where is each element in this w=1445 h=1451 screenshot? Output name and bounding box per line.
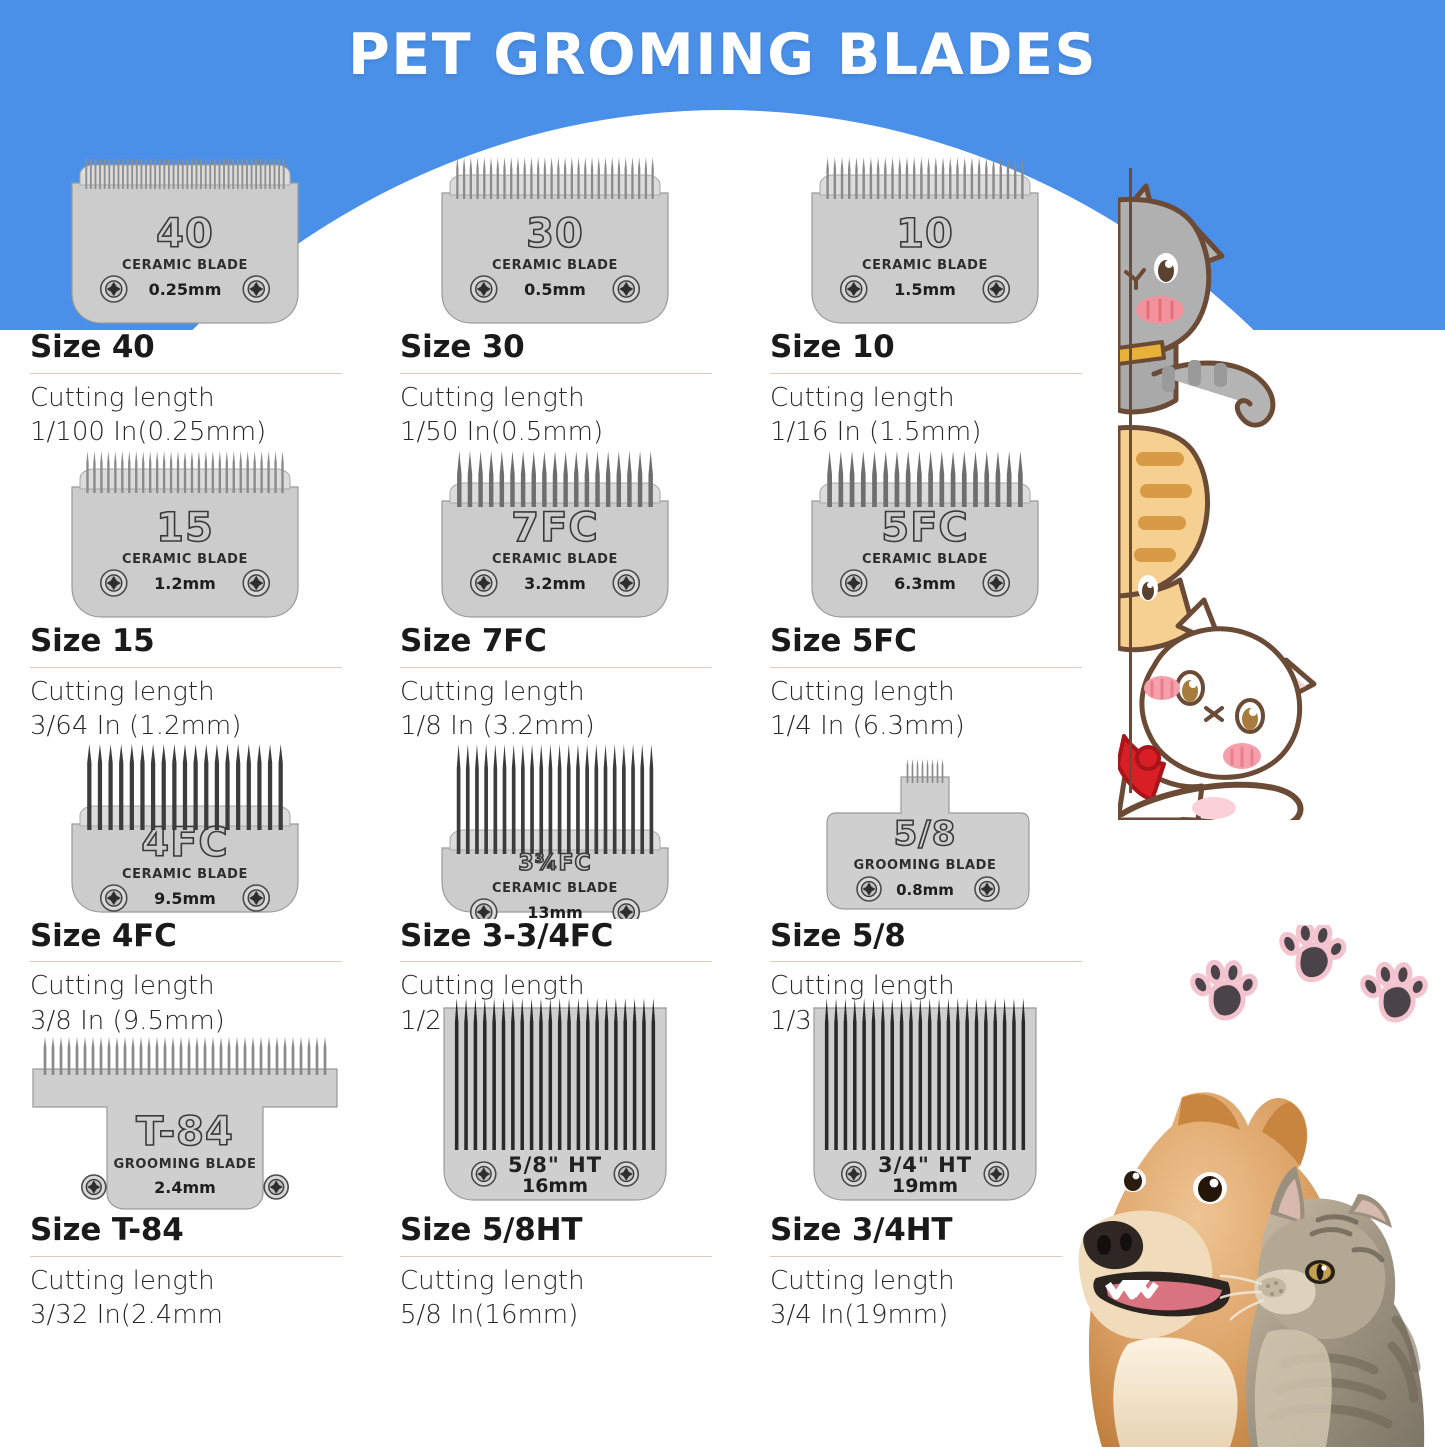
blade-grid: 40CERAMIC BLADE0.25mmSize 40Cutting leng… [0,150,1110,1332]
svg-text:CERAMIC BLADE: CERAMIC BLADE [122,552,248,567]
blade-size-label: Size 5FC [770,624,1110,659]
blade-info: Size 10Cutting length1/16 In (1.5mm) [740,330,1110,449]
svg-text:0.25mm: 0.25mm [149,280,222,299]
divider-rule [30,667,342,668]
blade-card[interactable]: T-84GROOMING BLADE2.4mmSize T-84Cutting … [0,1038,370,1332]
cutting-length-value: 1/16 In (1.5mm) [770,415,1110,449]
svg-text:CERAMIC BLADE: CERAMIC BLADE [862,258,988,273]
blade-size-label: Size 40 [30,330,370,365]
cutting-length-value: 3/8 In (9.5mm) [30,1004,370,1038]
vertical-divider [1129,168,1132,793]
divider-rule [400,1256,712,1257]
blade-info: Size 5FCCutting length1/4 In (6.3mm) [740,624,1110,743]
svg-text:T-84: T-84 [136,1109,234,1155]
blade-row: T-84GROOMING BLADE2.4mmSize T-84Cutting … [0,1038,1110,1332]
svg-text:1.5mm: 1.5mm [894,280,956,299]
svg-text:0.8mm: 0.8mm [896,881,954,899]
svg-text:10: 10 [896,211,954,257]
cutting-length-label: Cutting length [770,1264,1110,1298]
blade-image-30: 30CERAMIC BLADE0.5mm [370,150,740,330]
blade-card[interactable]: 10CERAMIC BLADE1.5mmSize 10Cutting lengt… [740,150,1110,449]
blade-image-40: 40CERAMIC BLADE0.25mm [0,150,370,330]
divider-rule [770,373,1082,374]
blade-size-label: Size 10 [770,330,1110,365]
svg-text:CERAMIC BLADE: CERAMIC BLADE [492,881,618,896]
blade-info: Size 7FCCutting length1/8 In (3.2mm) [370,624,740,743]
blade-row: 40CERAMIC BLADE0.25mmSize 40Cutting leng… [0,150,1110,449]
svg-text:5FC: 5FC [881,505,969,551]
blade-card[interactable]: 5/8GROOMING BLADE0.8mmSize 5/8Cutting le… [740,744,1110,1038]
divider-rule [30,1256,342,1257]
svg-text:CERAMIC BLADE: CERAMIC BLADE [862,552,988,567]
svg-text:GROOMING BLADE: GROOMING BLADE [854,858,997,873]
cutting-length-label: Cutting length [400,381,740,415]
divider-rule [30,373,342,374]
cutting-length-label: Cutting length [770,675,1110,709]
blade-card[interactable]: 4FCCERAMIC BLADE9.5mmSize 4FCCutting len… [0,744,370,1038]
svg-text:0.5mm: 0.5mm [524,280,586,299]
svg-text:7FC: 7FC [511,505,599,551]
cutting-length-label: Cutting length [30,675,370,709]
blade-info: Size 5/8HTCutting length5/8 In(16mm) [370,1213,740,1332]
blade-card[interactable]: 5/8" HT16mmSize 5/8HTCutting length5/8 I… [370,1038,740,1332]
blade-image-34ht: 3/4" HT19mm [740,1038,1110,1213]
blade-card[interactable]: 40CERAMIC BLADE0.25mmSize 40Cutting leng… [0,150,370,449]
cutting-length-value: 3/32 In(2.4mm [30,1298,370,1332]
cutting-length-value: 3/64 In (1.2mm) [30,709,370,743]
page-title: PET GROMING BLADES [0,22,1445,88]
blade-info: Size 3/4HTCutting length3/4 In(19mm) [740,1213,1110,1332]
svg-text:CERAMIC BLADE: CERAMIC BLADE [492,258,618,273]
blade-card[interactable]: 3/4" HT19mmSize 3/4HTCutting length3/4 I… [740,1038,1110,1332]
svg-text:3/4" HT: 3/4" HT [878,1153,972,1177]
blade-row: 15CERAMIC BLADE1.2mmSize 15Cutting lengt… [0,449,1110,743]
svg-text:15: 15 [156,505,214,551]
blade-size-label: Size 7FC [400,624,740,659]
cutting-length-value: 1/8 In (3.2mm) [400,709,740,743]
svg-text:5/8: 5/8 [894,814,957,854]
cutting-length-label: Cutting length [400,675,740,709]
divider-rule [400,373,712,374]
svg-text:19mm: 19mm [892,1175,958,1197]
blade-size-label: Size 4FC [30,919,370,954]
blade-image-4fc: 4FCCERAMIC BLADE9.5mm [0,744,370,919]
blade-size-label: Size 15 [30,624,370,659]
blade-card[interactable]: 30CERAMIC BLADE0.5mmSize 30Cutting lengt… [370,150,740,449]
svg-text:40: 40 [156,211,214,257]
svg-text:2.4mm: 2.4mm [154,1178,216,1197]
svg-text:4FC: 4FC [141,820,229,866]
blade-info: Size 30Cutting length1/50 In(0.5mm) [370,330,740,449]
blade-size-label: Size 3/4HT [770,1213,1110,1248]
blade-info: Size T-84Cutting length3/32 In(2.4mm [0,1213,370,1332]
svg-text:GROOMING BLADE: GROOMING BLADE [114,1157,257,1172]
divider-rule [770,1256,1082,1257]
blade-image-58ht: 5/8" HT16mm [370,1038,740,1213]
cutting-length-label: Cutting length [30,381,370,415]
cartoon-cats-illustration [1118,160,1445,820]
svg-text:16mm: 16mm [522,1175,588,1197]
blade-size-label: Size 5/8 [770,919,1110,954]
cutting-length-value: 1/50 In(0.5mm) [400,415,740,449]
blade-row: 4FCCERAMIC BLADE9.5mmSize 4FCCutting len… [0,744,1110,1038]
blade-image-5fc: 5FCCERAMIC BLADE6.3mm [740,449,1110,624]
cutting-length-value: 1/4 In (6.3mm) [770,709,1110,743]
blade-image-58: 5/8GROOMING BLADE0.8mm [740,744,1110,919]
paw-prints-decoration [1180,925,1430,1045]
divider-rule [30,961,342,962]
blade-image-7fc: 7FCCERAMIC BLADE3.2mm [370,449,740,624]
cutting-length-label: Cutting length [770,381,1110,415]
blade-size-label: Size 30 [400,330,740,365]
blade-info: Size 40Cutting length1/100 In(0.25mm) [0,330,370,449]
cutting-length-value: 5/8 In(16mm) [400,1298,740,1332]
divider-rule [770,961,1082,962]
svg-text:CERAMIC BLADE: CERAMIC BLADE [122,867,248,882]
cutting-length-label: Cutting length [400,1264,740,1298]
divider-rule [400,961,712,962]
blade-card[interactable]: 15CERAMIC BLADE1.2mmSize 15Cutting lengt… [0,449,370,743]
blade-info: Size 15Cutting length3/64 In (1.2mm) [0,624,370,743]
svg-text:30: 30 [526,211,584,257]
svg-text:5/8" HT: 5/8" HT [508,1153,602,1177]
divider-rule [400,667,712,668]
blade-card[interactable]: 5FCCERAMIC BLADE6.3mmSize 5FCCutting len… [740,449,1110,743]
divider-rule [770,667,1082,668]
blade-size-label: Size 3-3/4FC [400,919,740,954]
svg-text:1.2mm: 1.2mm [154,574,216,593]
cutting-length-label: Cutting length [30,969,370,1003]
cutting-length-value: 1/100 In(0.25mm) [30,415,370,449]
dog-and-cat-photo [1062,1082,1445,1447]
blade-image-t84: T-84GROOMING BLADE2.4mm [0,1038,370,1213]
cutting-length-value: 3/4 In(19mm) [770,1298,1110,1332]
blade-size-label: Size 5/8HT [400,1213,740,1248]
svg-text:CERAMIC BLADE: CERAMIC BLADE [122,258,248,273]
svg-text:9.5mm: 9.5mm [154,889,216,908]
blade-size-label: Size T-84 [30,1213,370,1248]
svg-text:3¾FC: 3¾FC [518,851,591,876]
cutting-length-label: Cutting length [30,1264,370,1298]
svg-text:3.2mm: 3.2mm [524,574,586,593]
svg-text:CERAMIC BLADE: CERAMIC BLADE [492,552,618,567]
blade-card[interactable]: 3¾FCCERAMIC BLADE13mmSize 3-3/4FCCutting… [370,744,740,1038]
blade-image-15: 15CERAMIC BLADE1.2mm [0,449,370,624]
svg-text:13mm: 13mm [527,903,583,919]
svg-text:6.3mm: 6.3mm [894,574,956,593]
blade-card[interactable]: 7FCCERAMIC BLADE3.2mmSize 7FCCutting len… [370,449,740,743]
blade-image-10: 10CERAMIC BLADE1.5mm [740,150,1110,330]
blade-info: Size 4FCCutting length3/8 In (9.5mm) [0,919,370,1038]
blade-image-3fc: 3¾FCCERAMIC BLADE13mm [370,744,740,919]
